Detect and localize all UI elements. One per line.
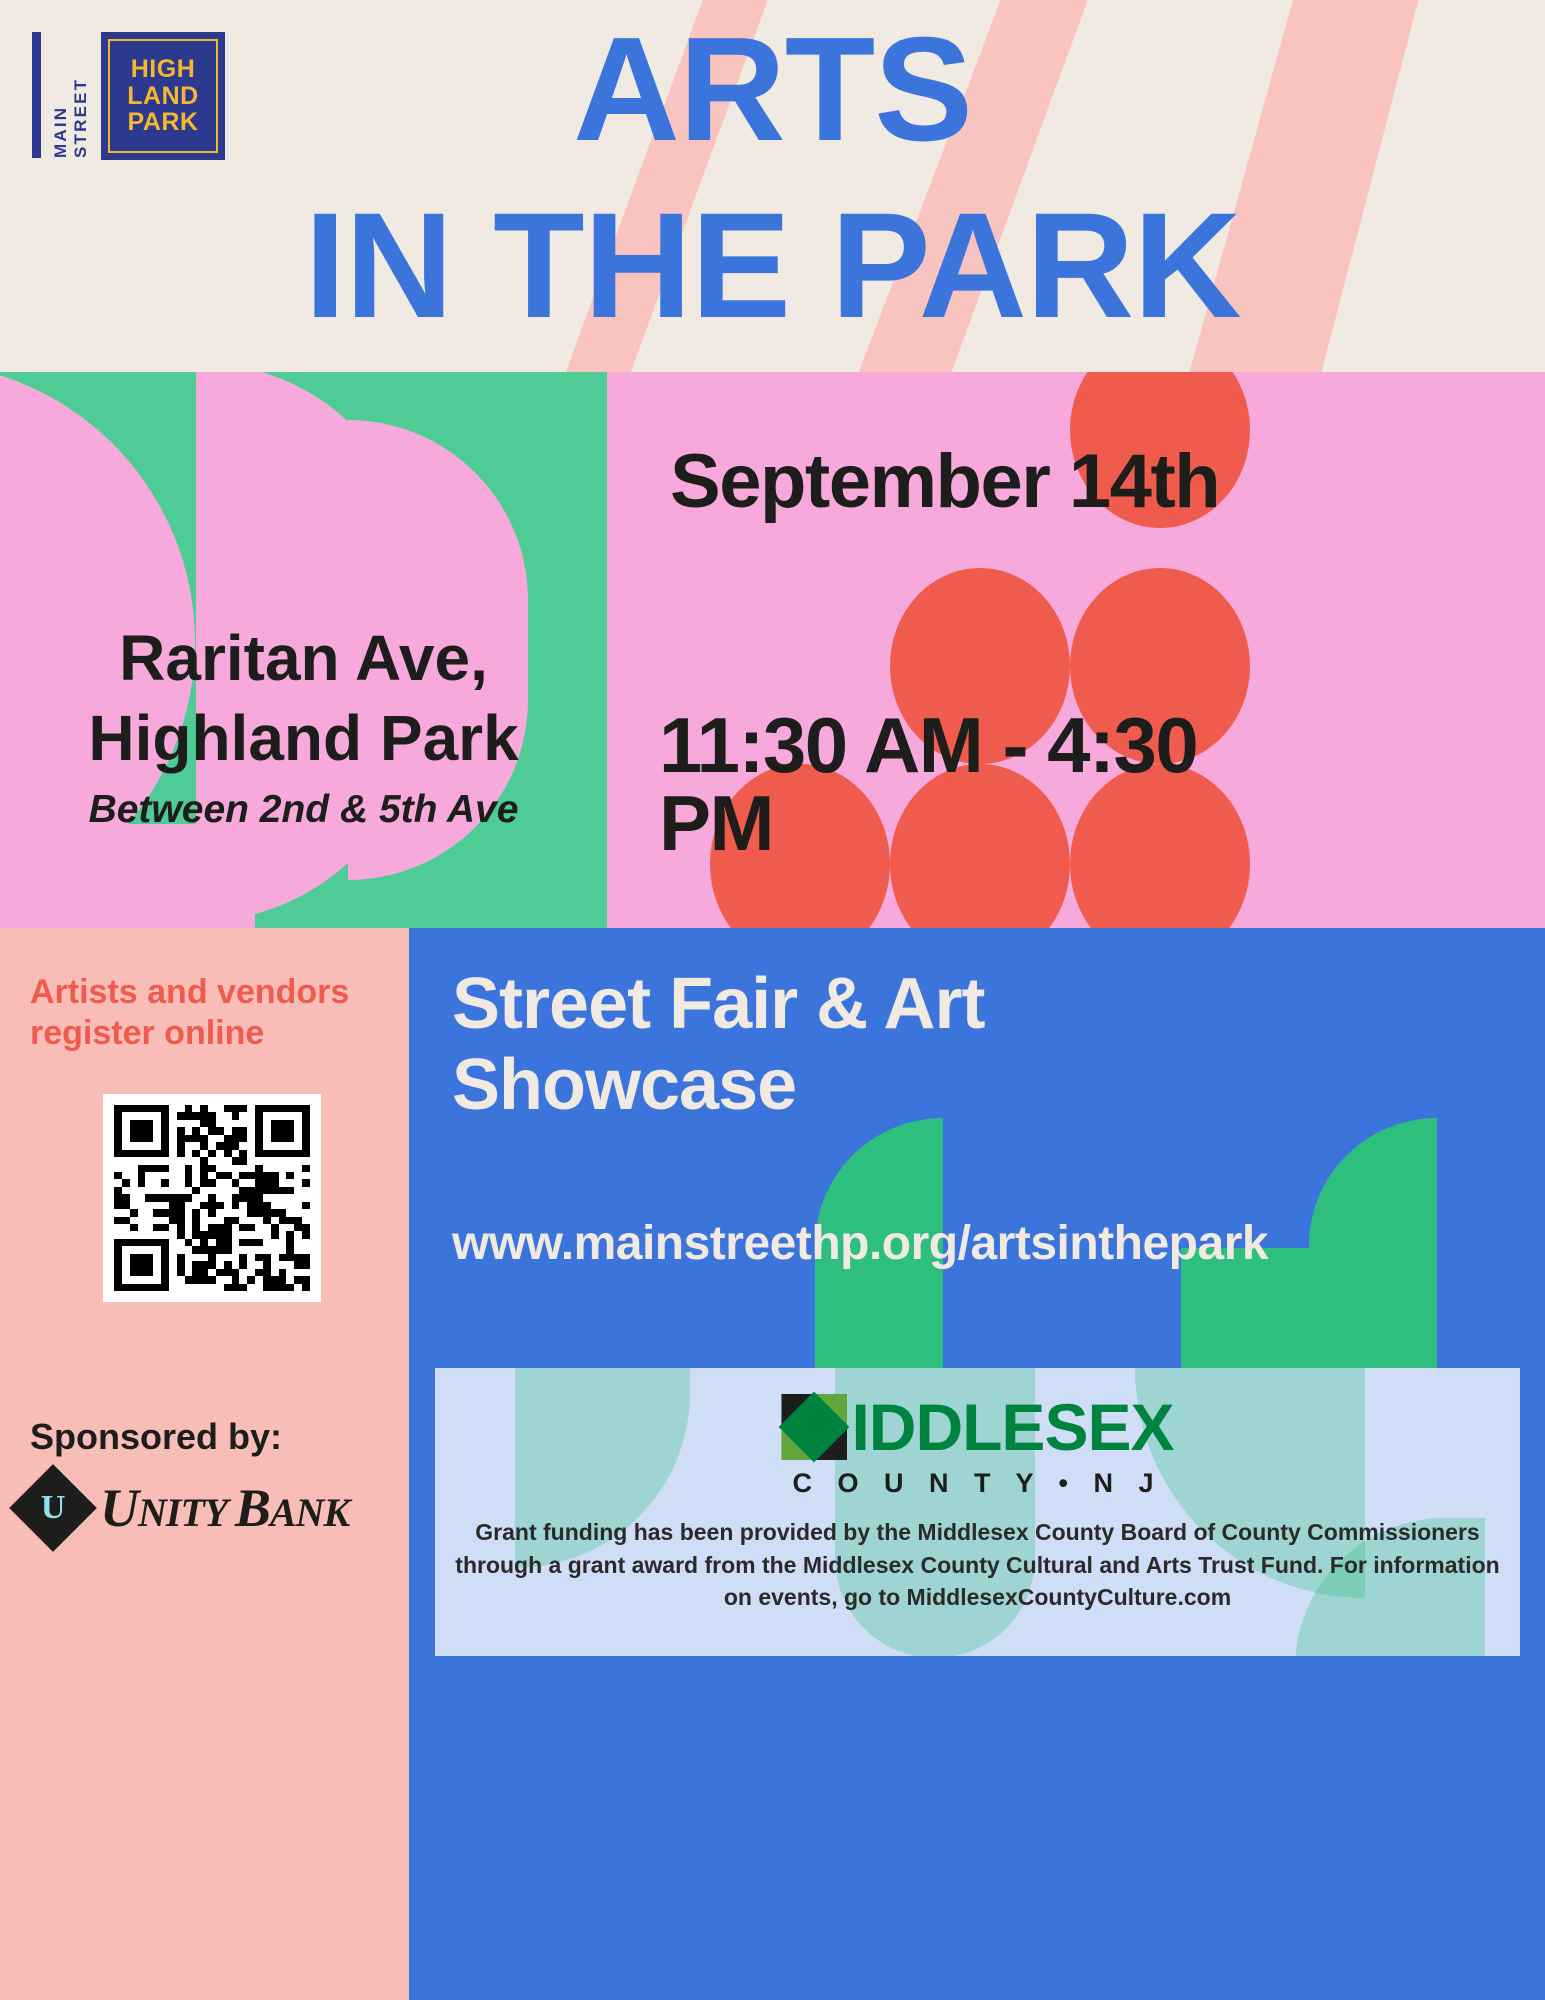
unity-bank-logo: U UNITY BANK: [22, 1470, 407, 1546]
event-headline: Street Fair & Art Showcase: [452, 964, 1172, 1125]
unity-u: U: [100, 1478, 138, 1538]
event-time: 11:30 AM - 4:30 PM: [659, 706, 1279, 862]
event-url[interactable]: www.mainstreethp.org/artsinthepark: [452, 1216, 1532, 1271]
location-cross-streets: Between 2nd & 5th Ave: [0, 790, 607, 830]
schedule-panel: September 14th 11:30 AM - 4:30 PM: [607, 372, 1545, 928]
location-panel: Raritan Ave, Highland Park Between 2nd &…: [0, 372, 607, 928]
event-details-panel: Street Fair & Art Showcase www.mainstree…: [409, 928, 1545, 2000]
middlesex-county-subtitle: C O U N T Y • N J: [435, 1468, 1520, 1499]
page-title-line-2: IN THE PARK: [0, 196, 1545, 334]
unity-nity: NITY: [138, 1490, 235, 1535]
grant-funding-text: Grant funding has been provided by the M…: [455, 1516, 1500, 1614]
middlesex-m-icon: [781, 1394, 847, 1460]
registration-heading: Artists and vendors register online: [30, 972, 395, 1055]
qr-code-matrix: [114, 1105, 310, 1291]
unity-mark-letter: U: [41, 1489, 66, 1527]
unity-ank: ANK: [270, 1490, 349, 1535]
unity-bank-wordmark: UNITY BANK: [100, 1477, 349, 1539]
registration-panel: Artists and vendors register online Spon…: [0, 928, 409, 2000]
location-street: Raritan Ave,: [0, 626, 607, 692]
middlesex-county-logo: IDDLESEX: [435, 1394, 1520, 1460]
registration-qr-code[interactable]: [103, 1094, 321, 1302]
unity-b: B: [235, 1478, 270, 1538]
mid-section: Raritan Ave, Highland Park Between 2nd &…: [0, 372, 1545, 928]
unity-diamond-icon: U: [9, 1464, 97, 1552]
location-town: Highland Park: [0, 706, 607, 772]
grant-acknowledgement-box: IDDLESEX C O U N T Y • N J Grant funding…: [435, 1368, 1520, 1656]
bottom-section: Artists and vendors register online Spon…: [0, 928, 1545, 2000]
sponsor-label: Sponsored by:: [30, 1416, 409, 1458]
middlesex-wordmark: IDDLESEX: [851, 1394, 1173, 1460]
event-date: September 14th: [670, 444, 1230, 520]
page-title-line-1: ARTS: [0, 22, 1545, 158]
poster: MAIN STREET HIGH LAND PARK ARTS IN THE P…: [0, 0, 1545, 2000]
header-section: MAIN STREET HIGH LAND PARK ARTS IN THE P…: [0, 0, 1545, 372]
